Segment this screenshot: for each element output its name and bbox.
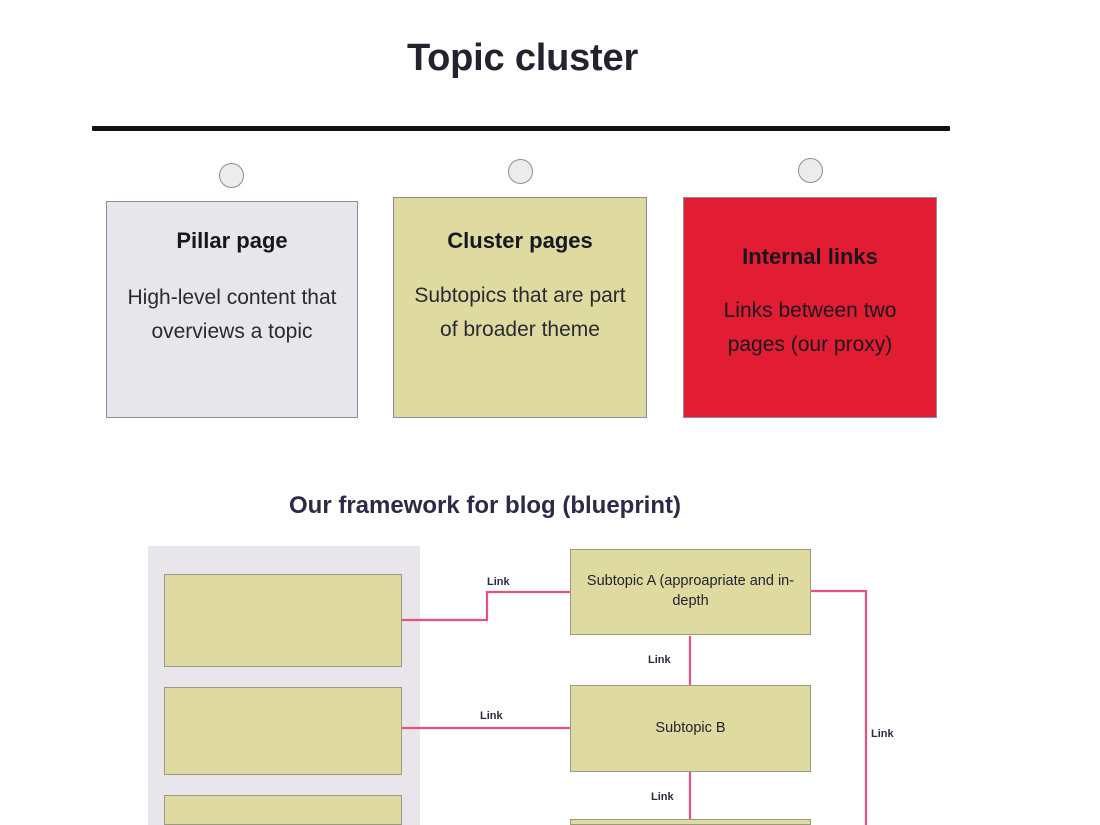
connector-link-label: Link: [480, 710, 503, 722]
blueprint-subtopic-b: Subtopic B: [570, 685, 811, 772]
header-divider-rule: [92, 126, 950, 131]
connector-subtopic-a-right-rail: [811, 591, 866, 825]
blueprint-subtopic-label: Subtopic B: [655, 719, 725, 739]
blueprint-pillar-slot: [164, 687, 402, 775]
framework-section-title: Our framework for blog (blueprint): [0, 492, 970, 521]
page-title: Topic cluster: [0, 38, 1045, 80]
concept-card-body: Subtopics that are part of broader theme: [410, 279, 630, 345]
blueprint-pillar-slot: [164, 574, 402, 667]
concept-card-heading: Pillar page: [123, 228, 341, 254]
circle-marker-icon-cluster: [508, 159, 533, 184]
blueprint-subtopic-label: Subtopic A (approapriate and in-depth: [579, 572, 802, 611]
concept-card-pillar-page: Pillar page High-level content that over…: [106, 201, 358, 418]
connector-link-label: Link: [648, 654, 671, 666]
circle-marker-icon-internal: [798, 158, 823, 183]
concept-card-heading: Internal links: [700, 244, 920, 270]
concept-card-body: Links between two pages (our proxy): [700, 294, 920, 360]
circle-marker-icon-pillar: [219, 163, 244, 188]
connector-link-label: Link: [651, 791, 674, 803]
concept-card-body: High-level content that overviews a topi…: [123, 281, 341, 347]
blueprint-subtopic-a: Subtopic A (approapriate and in-depth: [570, 549, 811, 635]
concept-card-cluster-pages: Cluster pages Subtopics that are part of…: [393, 197, 647, 418]
connector-link-label: Link: [487, 576, 510, 588]
connector-link-label: Link: [871, 728, 894, 740]
connector-slot1-to-subtopic-a: [402, 592, 570, 620]
concept-card-heading: Cluster pages: [410, 228, 630, 254]
blueprint-subtopic-c: [570, 819, 811, 825]
concept-card-internal-links: Internal links Links between two pages (…: [683, 197, 937, 418]
blueprint-pillar-slot: [164, 795, 402, 825]
